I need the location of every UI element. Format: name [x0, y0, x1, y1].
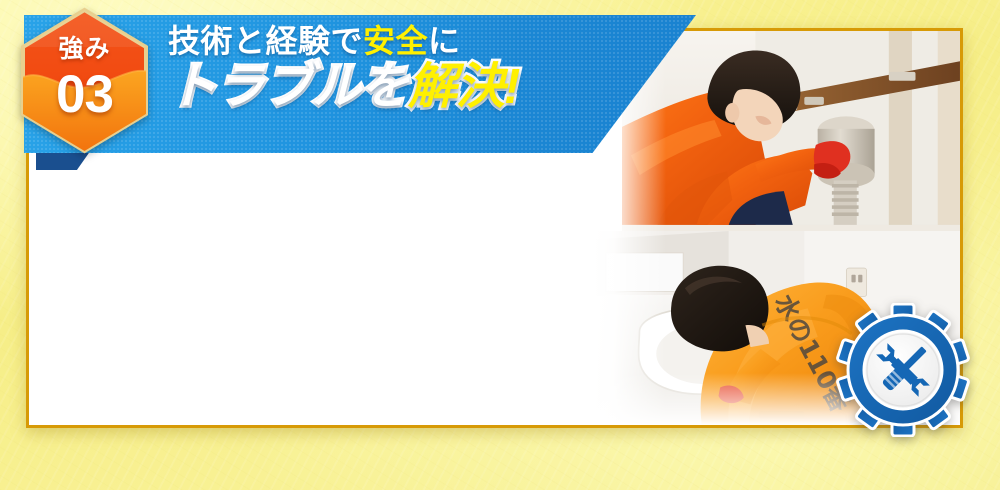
photo-worker-under-sink	[622, 31, 960, 249]
headline-line1-part-3: に	[428, 23, 461, 59]
headline-line2-highlight: 解決!	[408, 60, 519, 114]
headline-line2-part-1: トラブルを	[168, 60, 408, 114]
headline-line-1: 技術と経験で安全に	[168, 24, 519, 59]
gear-tools-icon	[836, 303, 970, 437]
headline-line-2: トラブルを解決!	[168, 62, 519, 113]
headline-line1-part-1: 技術と経験で	[168, 23, 363, 59]
photo-worker-under-sink-art	[622, 31, 960, 225]
strength-badge-shape	[16, 7, 153, 154]
gear-tools-icon-shape	[836, 303, 970, 437]
strength-badge: 強み 03	[16, 7, 153, 154]
headline-line1-highlight: 安全	[363, 23, 428, 59]
headline: 技術と経験で安全に トラブルを解決!	[168, 24, 519, 113]
